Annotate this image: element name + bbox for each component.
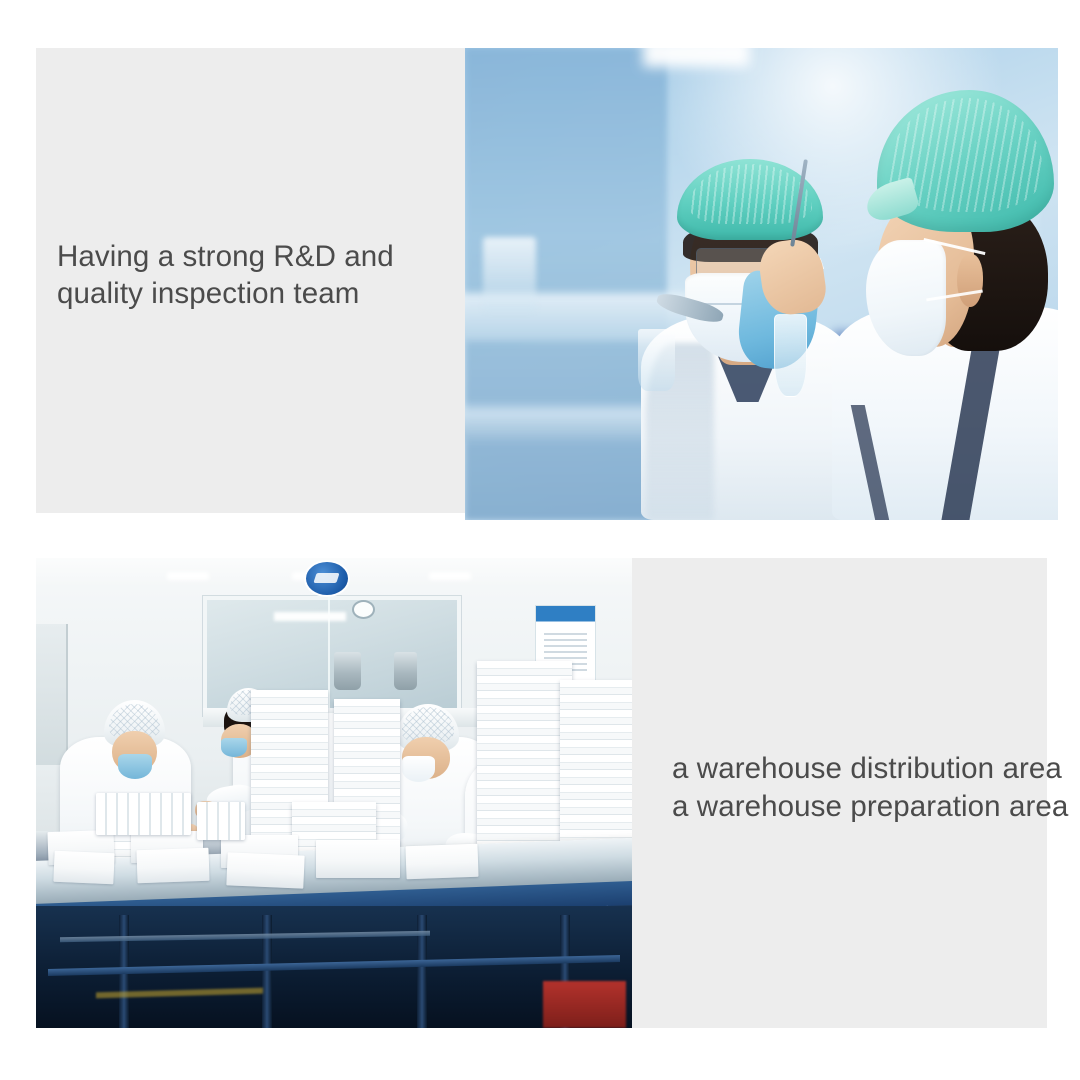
section-rd-quality-team: Having a strong R&D and quality inspecti… bbox=[36, 48, 1058, 520]
table-leg-2 bbox=[262, 915, 272, 1028]
carton-on-table-6 bbox=[226, 852, 305, 888]
lab-beaker bbox=[638, 329, 675, 392]
carton-stack-back-3 bbox=[477, 661, 572, 849]
vial-row-center bbox=[197, 802, 245, 840]
warehouse-window-light-reflection bbox=[274, 612, 346, 621]
caption-panel-top: Having a strong R&D and quality inspecti… bbox=[36, 48, 465, 513]
warehouse-worker-3-face-mask bbox=[402, 756, 435, 782]
poster-canvas: Having a strong R&D and quality inspecti… bbox=[0, 0, 1080, 1080]
warehouse-ceiling-light-1 bbox=[167, 572, 209, 580]
lab-glassware bbox=[483, 237, 536, 313]
lab-ceiling-light bbox=[643, 48, 750, 67]
warehouse-ceiling-light-3 bbox=[429, 572, 471, 580]
warehouse-worker-2-face-mask bbox=[221, 738, 247, 756]
caption-text-warehouse-areas: a warehouse distribution area a warehous… bbox=[672, 750, 1080, 826]
vial-row-left bbox=[96, 793, 191, 835]
warehouse-steel-pot-1 bbox=[334, 652, 361, 690]
warehouse-packing-photo bbox=[36, 558, 632, 1028]
lab-scene-background bbox=[465, 48, 1058, 520]
warehouse-scene-background bbox=[36, 558, 632, 1028]
carton-on-table-8 bbox=[405, 843, 478, 878]
carton-on-table-2 bbox=[53, 850, 114, 883]
lab-worker-profile bbox=[809, 76, 1058, 520]
warehouse-steel-pot-2 bbox=[394, 652, 418, 690]
carton-on-table-4 bbox=[137, 848, 210, 883]
lab-worker-profile-ear bbox=[957, 254, 983, 307]
warehouse-blue-wall-sign-icon bbox=[304, 560, 350, 597]
section-warehouse-areas: a warehouse distribution area a warehous… bbox=[36, 558, 1047, 1028]
caption-panel-bottom: a warehouse distribution area a warehous… bbox=[632, 558, 1047, 1028]
carton-stack-back-4 bbox=[560, 680, 632, 849]
lab-sample-vial bbox=[774, 314, 807, 397]
caption-text-rd-quality-team: Having a strong R&D and quality inspecti… bbox=[57, 238, 457, 312]
lab-quality-inspection-photo bbox=[465, 48, 1058, 520]
red-bin bbox=[543, 981, 626, 1028]
carton-on-table-7 bbox=[316, 840, 399, 878]
warehouse-worker-1-face-mask bbox=[118, 754, 152, 779]
